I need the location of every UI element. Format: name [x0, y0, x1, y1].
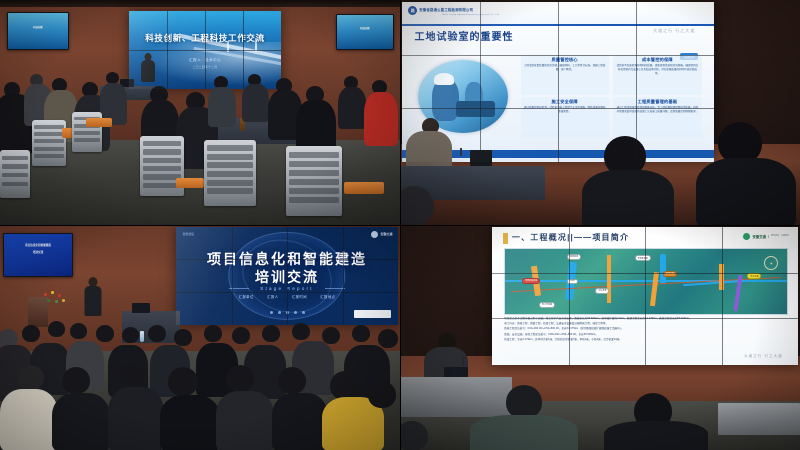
attendee-head — [62, 367, 90, 394]
attendee-body — [470, 415, 578, 450]
flower-arrangement — [42, 291, 70, 313]
attendee-body — [208, 87, 236, 127]
slide-logo-subtext: 畅安舒美 · 交通强省 — [768, 235, 789, 238]
map-road — [607, 255, 612, 303]
panel-top-right: 路 安徽省路通公路工程检测有限公司 Anhui Lutong Highway E… — [400, 0, 800, 225]
map-road — [650, 272, 659, 306]
wall-monitor-title-line2: 培训交流 — [4, 250, 72, 254]
slide-title-line1: 项目信息化和智能建造 — [176, 250, 398, 269]
slide-title: 项目信息化和智能建造 培训交流 — [176, 250, 398, 288]
card-body: 试验室不仅能检测原材料的质量，更能提供优质管控的保障，确保项目在有效资源内完成施… — [616, 64, 698, 76]
calligraphy-text: 大道之行 行之大道 — [653, 28, 695, 34]
card-heading: 工程质量管理的基础 — [638, 99, 678, 105]
slide-body-text: 项目起点位于合肥市蜀山区小庙镇，终点位于六安市金安区，路线全长约59.506km… — [504, 316, 786, 342]
slide-meta-item: 汇报人 — [267, 294, 278, 299]
attendee-body — [52, 393, 110, 450]
front-laptop — [132, 303, 150, 313]
attendee-head — [262, 325, 280, 342]
room-scene-bottom-left: 项目信息化和智能建造 培训交流 智能建造 安徽交通 项目信息化和智能建造 培训交… — [0, 225, 400, 450]
attendee-head — [48, 321, 65, 337]
card-heading: 质量管控核心 — [551, 57, 577, 63]
slide-meta-item: 汇报时间 — [292, 294, 307, 299]
side-desk — [718, 403, 800, 435]
ceiling-band — [0, 0, 400, 7]
wall-monitor-screen — [4, 234, 72, 276]
attendee-head — [506, 385, 542, 419]
logo-mark-icon — [743, 233, 750, 240]
wall-monitor-right-screen — [337, 15, 393, 49]
speaker-microphone — [460, 148, 462, 156]
slide-logo: 安徽交通 畅安舒美 · 交通强省 — [743, 233, 788, 240]
attendee-head — [352, 325, 370, 342]
chair-seat — [176, 178, 204, 188]
wall-monitor: 项目信息化和智能建造 培训交流 — [3, 233, 73, 277]
slide-header-rule — [402, 24, 714, 26]
map-compass-icon: ✦ — [764, 256, 778, 270]
photo-collage: 科技创新 科技创新 科技创新、工程科技工作交流 汇报人：技术中心 二〇二四年十二… — [0, 0, 800, 450]
photo-figure-technician — [432, 79, 459, 122]
speaker-laptop — [470, 150, 492, 166]
slide-meta-row: 汇报单位 汇报人 汇报时间 汇报地点 — [176, 294, 398, 299]
desk-microphone — [462, 357, 464, 366]
attendee-head — [70, 323, 87, 339]
attendee-head — [174, 329, 192, 346]
company-name-en: Anhui Lutong Highway Engineering Inspect… — [443, 14, 500, 16]
slide-card-grid: 质量管控核心 工地试验室是质量管控的关键，确保材料、工艺等符合标准，保障工程质量… — [521, 55, 702, 138]
chair — [286, 146, 342, 216]
videowall-bottom-right: 一、工程概况||——项目简介 安徽交通 畅安舒美 · 交通强省 — [492, 227, 798, 365]
body-line: 桥梁工程：全长3.179km，其中特大桥1座、大桥组合式桥梁7座、中桥1座、小桥… — [504, 337, 786, 342]
attendee-head — [22, 325, 40, 342]
attendee-body — [216, 391, 274, 450]
attendee-body — [160, 395, 220, 450]
wall-monitor-right: 科技创新 — [336, 14, 394, 50]
map-label: 合肥绕城高速 — [522, 278, 540, 284]
calligraphy-text: 大道之行 行之大道 — [744, 354, 783, 359]
wall-monitor-right-title: 科技创新 — [337, 26, 393, 30]
slide-bottom-left: 智能建造 安徽交通 项目信息化和智能建造 培训交流 Stage Report 汇… — [176, 227, 398, 325]
slide-bottom-right: 一、工程概况||——项目简介 安徽交通 畅安舒美 · 交通强省 — [492, 227, 798, 365]
map-road — [719, 264, 724, 290]
attendee-head — [292, 323, 310, 340]
wall-monitor-title-line1: 项目信息化和智能建造 — [4, 243, 72, 247]
slide-card: 成本管控的保障 试验室不仅能检测原材料的质量，更能提供优质管控的保障，确保项目在… — [613, 55, 701, 96]
slide-white-plate — [354, 310, 392, 318]
card-body: 通过工地试验室的检测和数据分析，为工地质量管理提供科学依据，有助于管理者及时发现… — [616, 106, 698, 114]
panel-top-left: 科技创新 科技创新 科技创新、工程科技工作交流 汇报人：技术中心 二〇二四年十二… — [0, 0, 400, 225]
slide-title: 科技创新、工程科技工作交流 — [129, 32, 281, 44]
slide-title: 一、工程概况||——项目简介 — [512, 232, 629, 243]
slide-title: 工地试验室的重要性 — [414, 28, 513, 43]
attendee-head — [322, 327, 340, 344]
slide-title-line2: 培训交流 — [176, 268, 398, 287]
attendee-head — [18, 365, 44, 390]
chair — [0, 150, 30, 198]
slide-logo: 安徽交通 — [371, 231, 392, 238]
attendee-head — [368, 381, 396, 408]
title-accent-bar — [503, 233, 508, 244]
attendee-head — [122, 327, 139, 343]
attendee-head-partial — [400, 421, 428, 450]
slide-logo-text: 安徽交通 — [380, 232, 392, 236]
attendee-body — [696, 158, 796, 225]
card-heading: 成本管控的保障 — [642, 57, 673, 63]
wall-monitor-left-title: 科技创新 — [8, 25, 68, 29]
map-label: 引江济淮 — [595, 288, 609, 294]
attendee-body — [582, 170, 674, 225]
attendee-head — [378, 329, 398, 348]
presenter-body — [85, 286, 102, 316]
logo-mark-icon: 路 — [408, 6, 417, 15]
attendee-head — [232, 327, 250, 344]
map-label: 派河大桥 — [663, 271, 677, 277]
collage-divider-horizontal — [0, 225, 800, 226]
chair-seat — [86, 118, 112, 127]
card-body: 工地试验室是质量管控的关键，确保材料、工艺等符合标准，保障工程质量，减少风险。 — [524, 64, 606, 72]
stage-report-label: Stage Report — [176, 286, 398, 291]
chair-seat — [344, 182, 384, 194]
water-bottle — [140, 331, 144, 342]
company-name: 安徽省路通公路工程检测有限公司 — [419, 8, 473, 12]
map-label: 合淮阜高速 — [635, 255, 651, 261]
slide-meta-item: 汇报地点 — [320, 294, 335, 299]
map-label: 合六叶高速 — [539, 302, 555, 308]
map-label: 新桥机场 — [567, 254, 581, 260]
attendee-head-partial — [400, 186, 434, 225]
slide-card: 质量管控核心 工地试验室是质量管控的关键，确保材料、工艺等符合标准，保障工程质量… — [521, 55, 609, 96]
presenter-desk — [400, 377, 512, 417]
attendee-head — [204, 325, 222, 342]
attendee-head — [96, 325, 114, 342]
chair — [204, 140, 256, 206]
chair — [32, 120, 66, 166]
attendee-head — [168, 367, 198, 396]
attendee-body — [108, 387, 164, 450]
wall-monitor-left: 科技创新 — [7, 12, 69, 50]
slide-logo-text: 安徽交通 — [752, 234, 766, 239]
room-scene-top-left: 科技创新 科技创新 科技创新、工程科技工作交流 汇报人：技术中心 二〇二四年十二… — [0, 0, 400, 225]
slide-meta-item: 汇报单位 — [239, 294, 254, 299]
presenter-body — [141, 60, 155, 82]
attendee-head — [278, 367, 306, 394]
room-scene-top-right: 路 安徽省路通公路工程检测有限公司 Anhui Lutong Highway E… — [400, 0, 800, 225]
attendee-head — [330, 371, 360, 400]
room-scene-bottom-right: 一、工程概况||——项目简介 安徽交通 畅安舒美 · 交通强省 — [400, 225, 800, 450]
wall-monitor-left-screen — [8, 13, 68, 49]
map-label: 终点互通 — [747, 273, 761, 279]
videowall-bottom-left: 智能建造 安徽交通 项目信息化和智能建造 培训交流 Stage Report 汇… — [176, 227, 398, 325]
card-body: 通过质量控制和检测，试验室为施工提供了安全的保障，降低质量问题和事故风险。 — [524, 106, 606, 114]
attendee-body — [0, 389, 58, 450]
panel-bottom-right: 一、工程概况||——项目简介 安徽交通 畅安舒美 · 交通强省 — [400, 225, 800, 450]
attendee-body — [272, 393, 328, 450]
panel-bottom-left: 项目信息化和智能建造 培训交流 智能建造 安徽交通 项目信息化和智能建造 培训交… — [0, 225, 400, 450]
map-river — [660, 254, 666, 284]
route-map: 合肥绕城高速 新桥机场 合淮阜高速 派河大桥 引江济淮 G312 合六叶高速 终… — [504, 248, 788, 315]
slide-card: 施工安全保障 通过质量控制和检测，试验室为施工提供了安全的保障，降低质量问题和事… — [521, 97, 609, 138]
attendee-body — [604, 421, 708, 450]
attendee-head — [118, 363, 144, 388]
attendee-head — [148, 325, 166, 342]
card-heading: 施工安全保障 — [551, 99, 577, 105]
attendee-head — [226, 365, 254, 392]
attendee-body — [242, 84, 269, 122]
attendee-body — [338, 87, 366, 129]
photo-figure-helmet — [434, 73, 454, 85]
slide-card: 工程质量管理的基础 通过工地试验室的检测和数据分析，为工地质量管理提供科学依据，… — [613, 97, 701, 138]
attendee-body — [364, 92, 398, 146]
slide-tag: 智能建造 — [183, 232, 195, 236]
map-label: G312 — [567, 279, 578, 284]
logo-mark-icon — [371, 231, 378, 238]
photo-equipment — [456, 101, 496, 117]
